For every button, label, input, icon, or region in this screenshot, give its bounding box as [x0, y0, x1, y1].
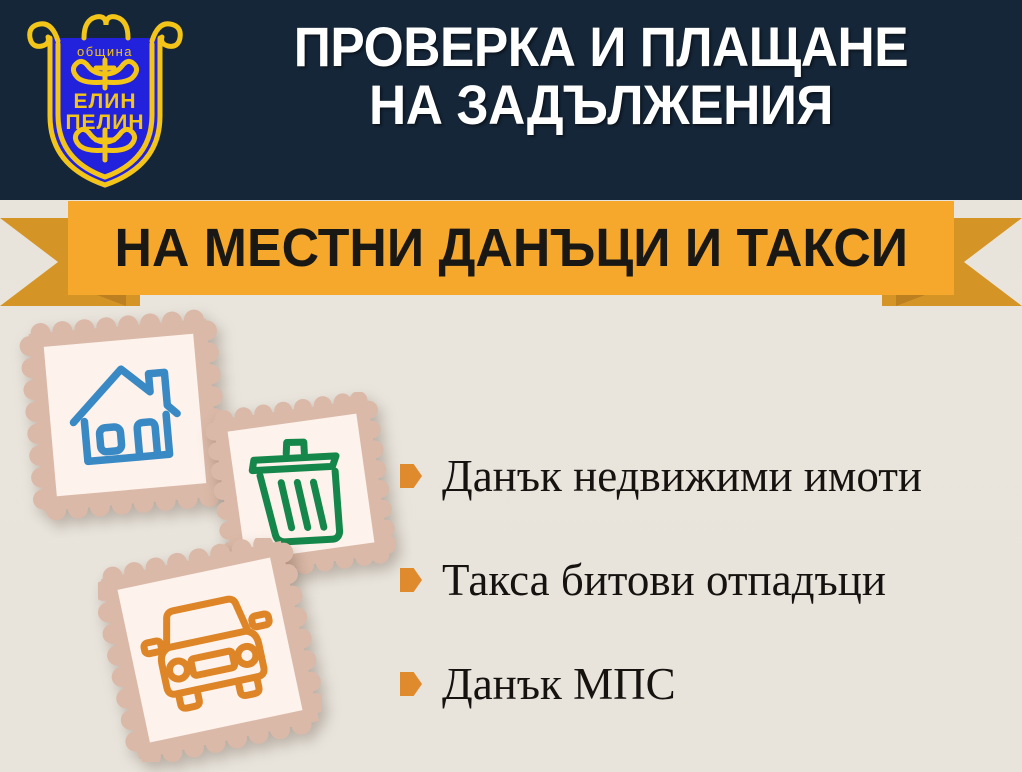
arrow-bullet-icon: [400, 568, 422, 592]
house-stamp-svg: [16, 306, 234, 524]
ribbon-main-panel: НА МЕСТНИ ДАНЪЦИ И ТАКСИ: [68, 201, 954, 295]
list-item[interactable]: Такса битови отпадъци: [400, 528, 1020, 632]
crest-svg: община ЕЛИН ПЕЛИН: [22, 8, 188, 194]
crest-municipality-label: община: [77, 44, 133, 59]
stamp-card-house: [16, 306, 234, 524]
stamp-frame: [18, 308, 233, 523]
stamp-frame: [98, 538, 322, 762]
list-item-label: Данък МПС: [442, 662, 676, 707]
arrow-bullet-icon: [400, 464, 422, 488]
stamp-card-car: [98, 538, 322, 762]
crest-name-line1: ЕЛИН: [73, 90, 136, 113]
list-item[interactable]: Данък недвижими имоти: [400, 424, 1020, 528]
ribbon-banner: НА МЕСТНИ ДАНЪЦИ И ТАКСИ: [0, 196, 1022, 306]
ribbon-subtitle: НА МЕСТНИ ДАНЪЦИ И ТАКСИ: [114, 217, 908, 279]
list-item-label: Данък недвижими имоти: [442, 454, 922, 499]
crest-name-line2: ПЕЛИН: [65, 111, 144, 134]
car-stamp-svg: [98, 538, 322, 762]
arrow-bullet-icon: [400, 672, 422, 696]
list-item[interactable]: Данък МПС: [400, 632, 1020, 736]
list-item-label: Такса битови отпадъци: [442, 558, 886, 603]
poster-root: ПРОВЕРКА И ПЛАЩАНЕ НА ЗАДЪЛЖЕНИЯ: [0, 0, 1022, 772]
tax-type-list: Данък недвижими имоти Такса битови отпад…: [400, 424, 1020, 736]
coat-of-arms: община ЕЛИН ПЕЛИН: [22, 8, 188, 194]
page-title: ПРОВЕРКА И ПЛАЩАНЕ НА ЗАДЪЛЖЕНИЯ: [214, 18, 989, 134]
